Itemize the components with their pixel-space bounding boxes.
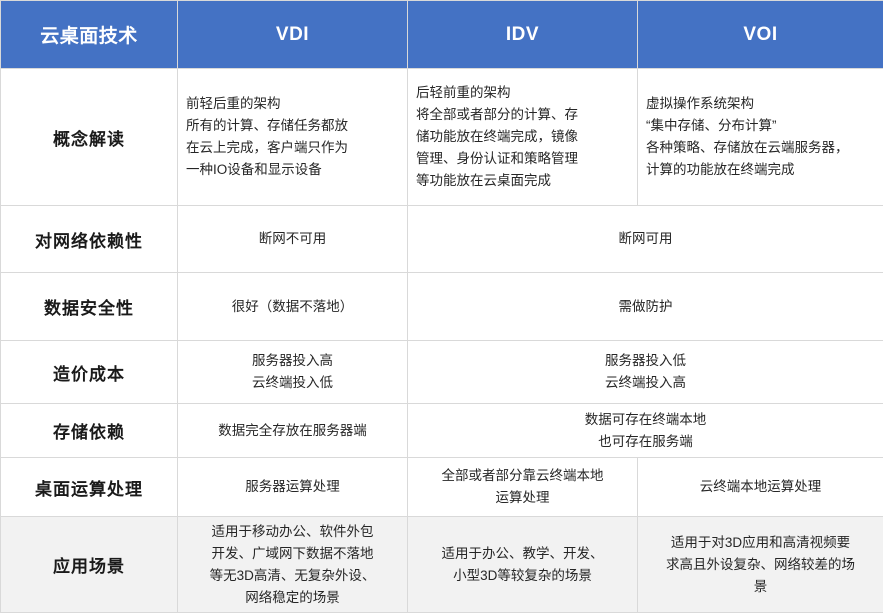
row-label-storage-dependency: 存储依赖 (1, 404, 178, 458)
cell-cost-idv-voi: 服务器投入低 云终端投入高 (408, 341, 883, 404)
table-row: 对网络依赖性 断网不可用 断网可用 (1, 206, 883, 273)
table-body: 概念解读 前轻后重的架构 所有的计算、存储任务都放 在云上完成，客户端只作为 一… (1, 69, 883, 613)
cell-text: 数据完全存放在服务器端 (186, 420, 399, 442)
cell-concept-vdi: 前轻后重的架构 所有的计算、存储任务都放 在云上完成，客户端只作为 一种IO设备… (178, 69, 408, 206)
cell-text: 很好（数据不落地） (186, 296, 399, 318)
column-header-voi: VOI (638, 1, 883, 69)
row-label-concept: 概念解读 (1, 69, 178, 206)
cell-text: 后轻前重的架构 将全部或者部分的计算、存 储功能放在终端完成，镜像 管理、身份认… (416, 82, 629, 191)
column-header-vdi-label: VDI (186, 24, 399, 46)
table-row: 数据安全性 很好（数据不落地） 需做防护 (1, 273, 883, 341)
cell-cost-vdi: 服务器投入高 云终端投入低 (178, 341, 408, 404)
column-header-voi-label: VOI (646, 24, 875, 46)
cell-desktop-compute-idv: 全部或者部分靠云终端本地 运算处理 (408, 458, 638, 517)
row-label-cost: 造价成本 (1, 341, 178, 404)
cell-data-security-vdi: 很好（数据不落地） (178, 273, 408, 341)
cell-storage-dependency-idv-voi: 数据可存在终端本地 也可存在服务端 (408, 404, 883, 458)
cell-text: 前轻后重的架构 所有的计算、存储任务都放 在云上完成，客户端只作为 一种IO设备… (186, 93, 399, 180)
cell-text: 云终端本地运算处理 (646, 476, 875, 498)
row-label-data-security: 数据安全性 (1, 273, 178, 341)
cell-text: 服务器运算处理 (186, 476, 399, 498)
cell-concept-idv: 后轻前重的架构 将全部或者部分的计算、存 储功能放在终端完成，镜像 管理、身份认… (408, 69, 638, 206)
cell-data-security-idv-voi: 需做防护 (408, 273, 883, 341)
table-row: 概念解读 前轻后重的架构 所有的计算、存储任务都放 在云上完成，客户端只作为 一… (1, 69, 883, 206)
table-header: 云桌面技术 VDI IDV VOI (1, 1, 883, 69)
cell-network-dependency-idv-voi: 断网可用 (408, 206, 883, 273)
cell-concept-voi: 虚拟操作系统架构 “集中存储、分布计算” 各种策略、存储放在云端服务器， 计算的… (638, 69, 883, 206)
table-row: 造价成本 服务器投入高 云终端投入低 服务器投入低 云终端投入高 (1, 341, 883, 404)
row-label-use-cases: 应用场景 (1, 517, 178, 613)
column-header-idv-label: IDV (416, 24, 629, 46)
cell-text: 断网可用 (416, 228, 875, 250)
cell-desktop-compute-voi: 云终端本地运算处理 (638, 458, 883, 517)
cell-text: 适用于对3D应用和高清视频要 求高且外设复杂、网络较差的场 景 (646, 532, 875, 598)
table-row: 存储依赖 数据完全存放在服务器端 数据可存在终端本地 也可存在服务端 (1, 404, 883, 458)
row-label-network-dependency: 对网络依赖性 (1, 206, 178, 273)
column-header-idv: IDV (408, 1, 638, 69)
cell-text: 需做防护 (416, 296, 875, 318)
cell-storage-dependency-vdi: 数据完全存放在服务器端 (178, 404, 408, 458)
cloud-desktop-comparison-table: 云桌面技术 VDI IDV VOI 概念解读 前轻后重的架构 所有的计算、存储任… (0, 0, 883, 613)
column-header-category-label: 云桌面技术 (9, 21, 169, 48)
column-header-vdi: VDI (178, 1, 408, 69)
table-row: 桌面运算处理 服务器运算处理 全部或者部分靠云终端本地 运算处理 云终端本地运算… (1, 458, 883, 517)
cell-text: 服务器投入高 云终端投入低 (186, 350, 399, 394)
cell-use-cases-vdi: 适用于移动办公、软件外包 开发、广域网下数据不落地 等无3D高清、无复杂外设、 … (178, 517, 408, 613)
cell-use-cases-idv: 适用于办公、教学、开发、 小型3D等较复杂的场景 (408, 517, 638, 613)
cell-network-dependency-vdi: 断网不可用 (178, 206, 408, 273)
row-label-desktop-compute: 桌面运算处理 (1, 458, 178, 517)
cell-desktop-compute-vdi: 服务器运算处理 (178, 458, 408, 517)
cell-text: 全部或者部分靠云终端本地 运算处理 (416, 465, 629, 509)
cell-text: 服务器投入低 云终端投入高 (416, 350, 875, 394)
cell-text: 适用于办公、教学、开发、 小型3D等较复杂的场景 (416, 543, 629, 587)
table-row: 应用场景 适用于移动办公、软件外包 开发、广域网下数据不落地 等无3D高清、无复… (1, 517, 883, 613)
cell-text: 断网不可用 (186, 228, 399, 250)
table-header-row: 云桌面技术 VDI IDV VOI (1, 1, 883, 69)
cell-text: 数据可存在终端本地 也可存在服务端 (416, 409, 875, 453)
cell-text: 适用于移动办公、软件外包 开发、广域网下数据不落地 等无3D高清、无复杂外设、 … (186, 521, 399, 608)
cell-use-cases-voi: 适用于对3D应用和高清视频要 求高且外设复杂、网络较差的场 景 (638, 517, 883, 613)
column-header-category: 云桌面技术 (1, 1, 178, 69)
cell-text: 虚拟操作系统架构 “集中存储、分布计算” 各种策略、存储放在云端服务器， 计算的… (646, 93, 875, 180)
